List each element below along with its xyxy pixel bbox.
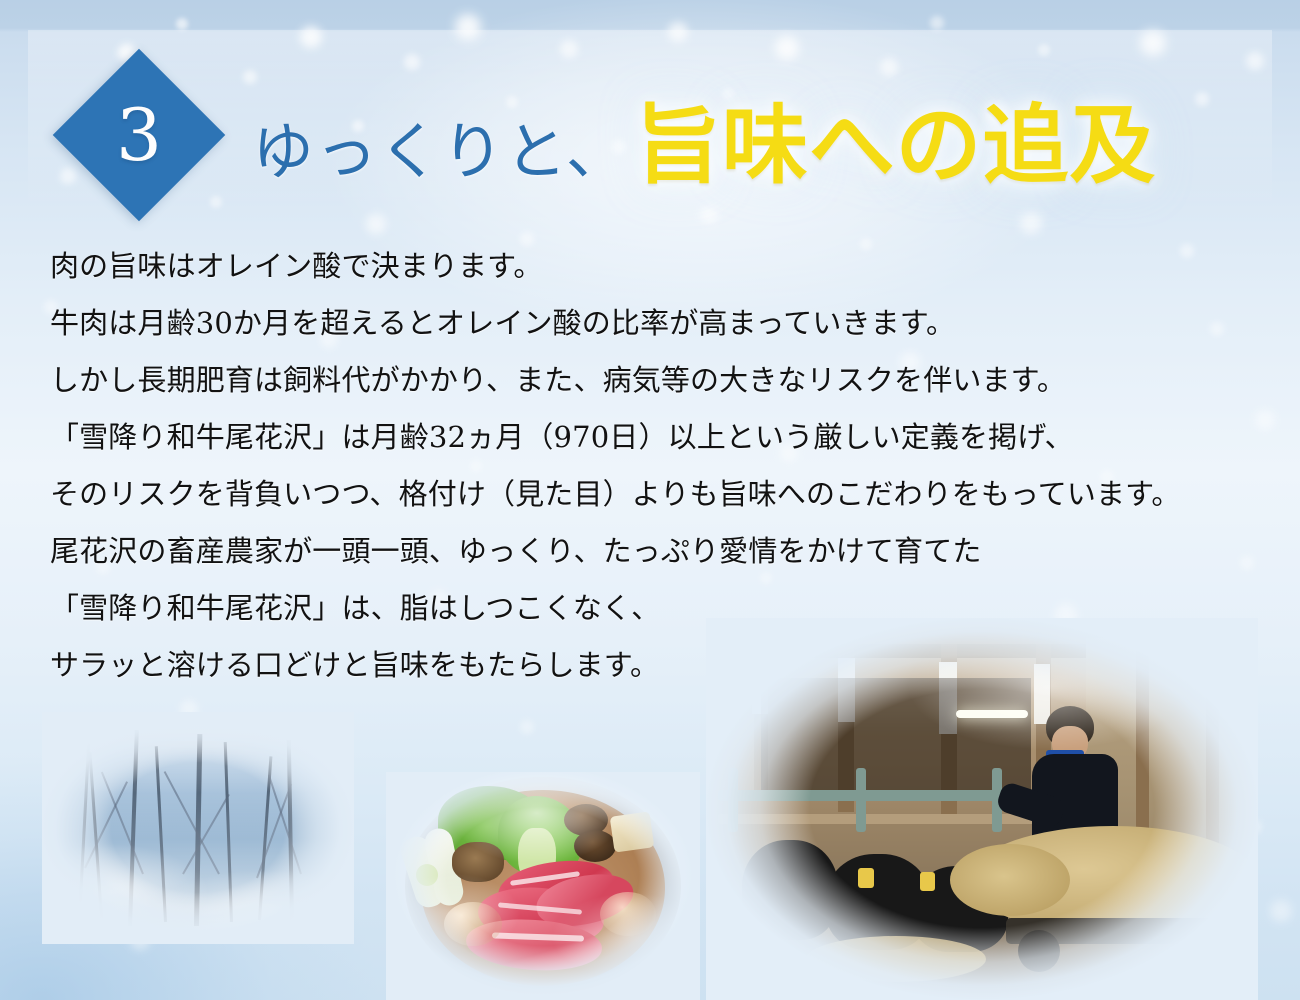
copy-line: そのリスクを背負いつつ、格付け（見た目）よりも旨味へのこだわりをもっています。 (50, 466, 1280, 523)
copy-line: しかし長期肥育は飼料代がかかり、また、病気等の大きなリスクを伴います。 (50, 352, 1280, 409)
step-number-label: 3 (78, 74, 200, 196)
promo-page: 3 ゆっくりと、 旨味への追及 肉の旨味はオレイン酸で決まります。 牛肉は月齢3… (0, 0, 1300, 1000)
photo-snowy-forest (42, 712, 354, 944)
snow-veil (42, 712, 354, 944)
copy-line: 尾花沢の畜産農家が一頭一頭、ゆっくり、たっぷり愛情をかけて育てた (50, 523, 1280, 580)
page-title-main: 旨味への追及 (635, 103, 1156, 189)
snow-flake (520, 720, 534, 734)
snow-flake (1270, 900, 1292, 922)
photo-farmer-feeding-cattle (706, 618, 1258, 1000)
steam-overlay (386, 772, 700, 1000)
photo-sukiyaki-hotpot (386, 772, 700, 1000)
page-title-lead: ゆっくりと、 (252, 101, 629, 191)
page-title: ゆっくりと、 旨味への追及 (252, 86, 1156, 206)
section-header: 3 ゆっくりと、 旨味への追及 (0, 0, 1300, 230)
barn-light-overlay (706, 618, 1258, 1000)
copy-line: 肉の旨味はオレイン酸で決まります。 (50, 238, 1280, 295)
copy-line: 「雪降り和牛尾花沢」は月齢32ヵ月（970日）以上という厳しい定義を掲げ、 (50, 409, 1280, 466)
copy-line: 牛肉は月齢30か月を超えるとオレイン酸の比率が高まっていきます。 (50, 295, 1280, 352)
